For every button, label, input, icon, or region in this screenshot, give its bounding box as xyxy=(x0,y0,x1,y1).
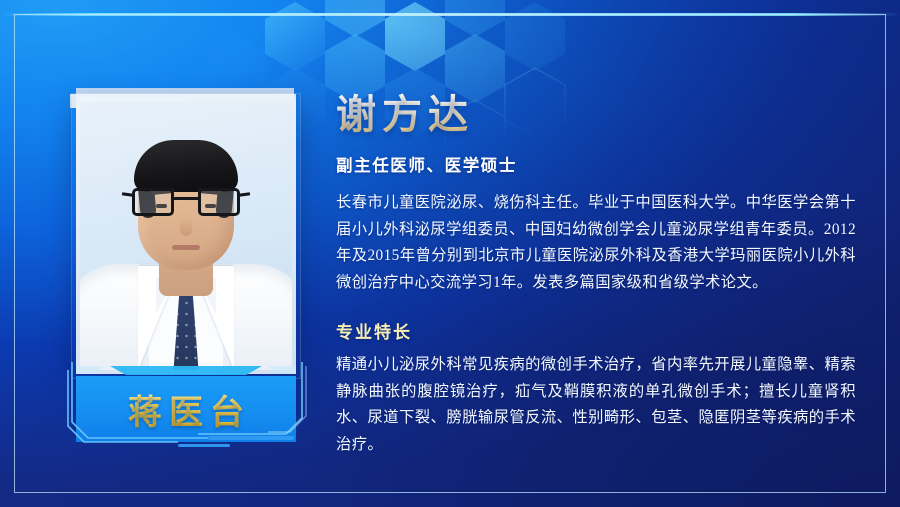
specialty-heading: 专业特长 xyxy=(336,318,856,343)
doctor-bio: 长春市儿童医院泌尿、烧伤科主任。毕业于中国医科大学。中华医学会第十届小儿外科泌尿… xyxy=(336,190,856,296)
portrait-nameplate: 蒋医台 xyxy=(76,376,296,442)
top-accent-rule xyxy=(0,13,900,16)
lens-right xyxy=(198,188,240,216)
glasses-temple-right xyxy=(239,192,250,197)
eyeglasses xyxy=(132,186,240,220)
glasses-temple-left xyxy=(122,192,133,197)
specialty-body: 精通小儿泌尿外科常见疾病的微创手术治疗，省内率先开展儿童隐睾、精索静脉曲张的腹腔… xyxy=(336,352,856,458)
lens-left xyxy=(132,188,174,216)
glasses-bridge xyxy=(174,197,198,200)
doctor-profile-slide: 蒋医台 谢方达 副主任医师、医学硕士 长春市儿童医院泌尿 xyxy=(0,0,900,507)
portrait-photo xyxy=(76,98,296,374)
portrait-illustration xyxy=(80,102,292,370)
doctor-title: 副主任医师、医学硕士 xyxy=(336,152,856,176)
profile-text-column: 谢方达 副主任医师、医学硕士 长春市儿童医院泌尿、烧伤科主任。毕业于中国医科大学… xyxy=(336,92,856,458)
mouth xyxy=(172,245,200,250)
hair xyxy=(134,140,238,192)
nose xyxy=(180,218,192,236)
doctor-name: 谢方达 xyxy=(336,92,856,138)
portrait-block: 蒋医台 xyxy=(62,88,308,448)
portrait-nameplate-text: 蒋医台 xyxy=(121,385,251,434)
